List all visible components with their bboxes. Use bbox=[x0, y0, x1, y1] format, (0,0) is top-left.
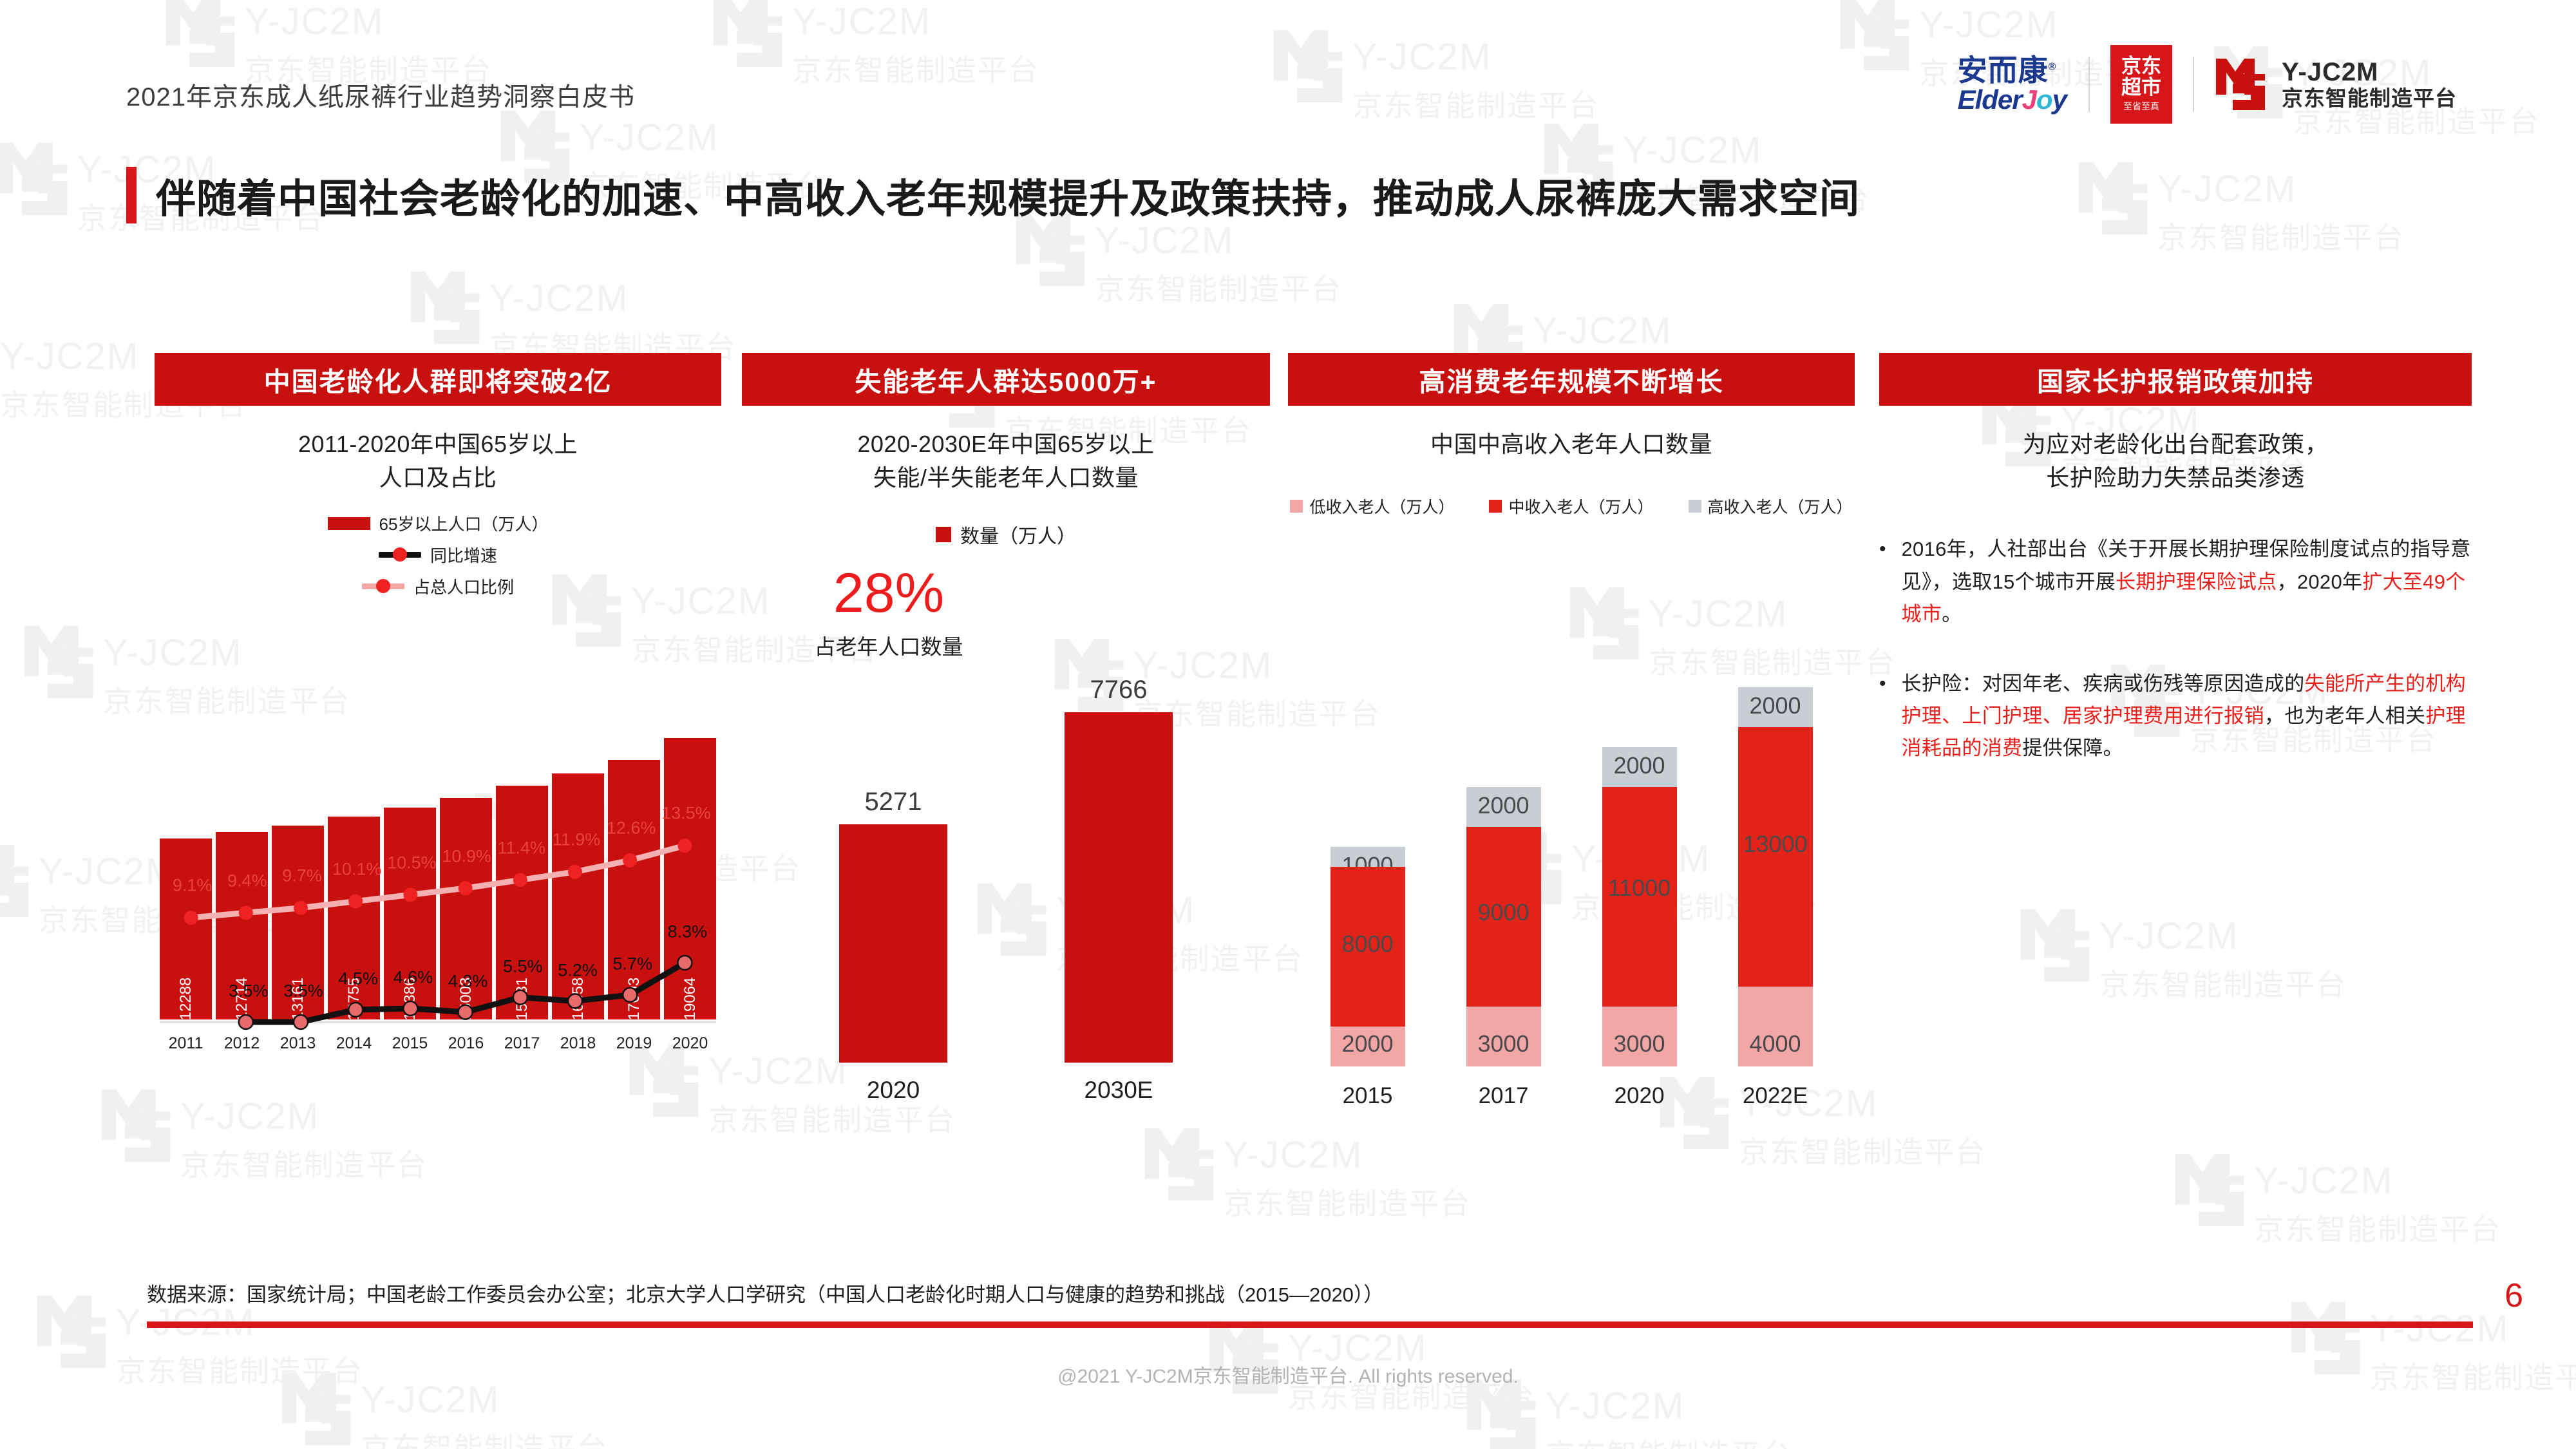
jd-super-line2: 超市 bbox=[2121, 77, 2161, 98]
data-point bbox=[239, 906, 253, 920]
watermark-logo-icon bbox=[407, 268, 483, 356]
watermark-text: Y-JC2M京东智能制造平台 bbox=[361, 1378, 608, 1449]
x-axis-label: 2017 bbox=[1466, 1083, 1541, 1109]
data-point bbox=[239, 1015, 253, 1029]
watermark-logo-icon bbox=[0, 139, 71, 227]
data-label: 12.6% bbox=[607, 819, 656, 838]
segment-value-label: 8000 bbox=[1341, 931, 1393, 958]
chart-1-legend: 65岁以上人口（万人） 同比增速 占总人口比例 bbox=[155, 511, 721, 598]
stack-segment-low: 3000 bbox=[1602, 1007, 1677, 1066]
data-label: 5.2% bbox=[558, 960, 598, 980]
panel-aging-population: 中国老龄化人群即将突破2亿 2011-2020年中国65岁以上人口及占比 65岁… bbox=[155, 353, 721, 1113]
legend-swatch-bar bbox=[328, 517, 370, 530]
chart-3-legend: 低收入老人（万人） 中收入老人（万人） 高收入老人（万人） bbox=[1288, 495, 1855, 518]
data-point bbox=[403, 1001, 417, 1016]
watermark-logo-icon bbox=[2075, 158, 2151, 247]
logo-divider bbox=[2088, 57, 2090, 112]
elderjoy-cn-text: 安而康 bbox=[1958, 53, 2049, 87]
data-label: 3.5% bbox=[283, 981, 323, 1001]
document-title: 2021年京东成人纸尿裤行业趋势洞察白皮书 bbox=[126, 76, 635, 113]
elderjoy-en-y: y bbox=[2052, 84, 2067, 115]
watermark-text: Y-JC2M京东智能制造平台 bbox=[1224, 1133, 1471, 1223]
bar-value-label: 7766 bbox=[1090, 676, 1148, 705]
chart-2-x-axis-labels: 20202030E bbox=[781, 1077, 1231, 1104]
headline-block: 伴随着中国社会老龄化的加速、中高收入老年规模提升及政策扶持，推动成人尿裤庞大需求… bbox=[126, 166, 1860, 224]
legend-label-population: 65岁以上人口（万人） bbox=[379, 511, 549, 535]
data-source-note: 数据来源：国家统计局；中国老龄工作委员会办公室；北京大学人口学研究（中国人口老龄… bbox=[147, 1278, 1383, 1307]
registered-trademark-icon: ® bbox=[2049, 61, 2057, 72]
data-label: 9.4% bbox=[227, 871, 267, 891]
x-axis-label: 2013 bbox=[272, 1034, 324, 1053]
subtitle-line-1: 为应对老龄化出台配套政策， bbox=[1879, 428, 2472, 461]
legend-label-growth: 同比增速 bbox=[430, 543, 497, 567]
legend-swatch-high-income bbox=[1689, 500, 1701, 513]
bullet-text: 2016年，人社部出台《关于开展长期护理保险制度试点的指导意见》，选取15个城市… bbox=[1902, 533, 2472, 630]
stack-segment-low: 2000 bbox=[1331, 1027, 1405, 1066]
data-point bbox=[348, 1003, 363, 1017]
highlighted-phrase: 长期护理保险试点 bbox=[2116, 571, 2277, 593]
stack-segment-high: 2000 bbox=[1602, 747, 1677, 787]
data-point bbox=[294, 901, 308, 915]
bullet-dot-icon: • bbox=[1879, 668, 1886, 765]
segment-value-label: 3000 bbox=[1477, 1030, 1529, 1057]
data-point bbox=[677, 956, 692, 970]
chart-3-x-axis-labels: 2015201720202022E bbox=[1300, 1083, 1843, 1109]
data-label: 9.7% bbox=[282, 866, 322, 886]
list-item: •长护险：对因年老、疾病或伤残等原因造成的失能所产生的机构护理、上门护理、居家护… bbox=[1879, 668, 2472, 765]
data-label: 4.5% bbox=[338, 969, 378, 989]
data-point bbox=[459, 1005, 473, 1019]
stack-segment-low: 3000 bbox=[1466, 1007, 1541, 1066]
data-point bbox=[677, 838, 692, 853]
segment-value-label: 2000 bbox=[1341, 1030, 1393, 1057]
yjc2m-logo: Y-JC2M 京东智能制造平台 bbox=[2194, 56, 2457, 113]
data-label: 10.1% bbox=[332, 859, 382, 879]
data-point bbox=[513, 990, 527, 1005]
watermark-logo-icon bbox=[1141, 1124, 1217, 1213]
footer-rule bbox=[147, 1321, 2473, 1328]
logo-group: 安而康® ElderJoy 京东 超市 至省至真 Y-JC2M 京东智能制造平台 bbox=[1958, 46, 2457, 122]
data-label: 13.5% bbox=[661, 804, 711, 824]
segment-value-label: 3000 bbox=[1613, 1030, 1665, 1057]
watermark-logo-icon bbox=[21, 622, 97, 710]
legend-item-high-income: 高收入老人（万人） bbox=[1689, 495, 1853, 518]
stack-segment-high: 1000 bbox=[1331, 847, 1405, 867]
x-axis-label: 2018 bbox=[552, 1034, 604, 1053]
list-item: •2016年，人社部出台《关于开展长期护理保险制度试点的指导意见》，选取15个城… bbox=[1879, 533, 2472, 630]
legend-item-share: 占总人口比例 bbox=[362, 574, 514, 598]
x-axis-label: 2017 bbox=[496, 1034, 548, 1053]
x-axis-label: 2020 bbox=[839, 1077, 947, 1104]
data-point bbox=[568, 865, 582, 879]
panel-1-title: 中国老龄化人群即将突破2亿 bbox=[155, 353, 721, 406]
watermark-text: Y-JC2M京东智能制造平台 bbox=[1546, 1385, 1793, 1449]
legend-item-population: 65岁以上人口（万人） bbox=[328, 511, 549, 535]
x-axis-label: 2015 bbox=[1331, 1083, 1405, 1109]
data-label: 8.3% bbox=[668, 922, 708, 942]
bar-column: 7766 bbox=[1065, 676, 1173, 1063]
data-point bbox=[623, 988, 637, 1002]
data-label: 5.7% bbox=[612, 954, 652, 974]
segment-value-label: 2000 bbox=[1477, 792, 1529, 819]
chart-3-stacked-bars: 1000800020002000900030002000110003000200… bbox=[1300, 667, 1843, 1066]
legend-swatch-mid-income bbox=[1489, 500, 1502, 513]
data-label: 4.6% bbox=[393, 968, 433, 988]
watermark-logo-icon bbox=[710, 0, 786, 79]
watermark-logo-icon bbox=[0, 841, 32, 929]
legend-item-growth: 同比增速 bbox=[379, 543, 497, 567]
bullet-dot-icon: • bbox=[1879, 533, 1886, 630]
data-label: 10.5% bbox=[387, 853, 437, 873]
elderjoy-en-text: Elder bbox=[1958, 84, 2022, 115]
x-axis-label: 2022E bbox=[1738, 1083, 1813, 1109]
x-axis-label: 2020 bbox=[664, 1034, 716, 1053]
panel-3-title: 高消费老年规模不断增长 bbox=[1288, 353, 1855, 406]
yjc2m-cn-text: 京东智能制造平台 bbox=[2282, 86, 2457, 110]
legend-label-high-income: 高收入老人（万人） bbox=[1708, 495, 1853, 518]
panel-high-income-elderly: 高消费老年规模不断增长 中国中高收入老年人口数量 低收入老人（万人） 中收入老人… bbox=[1288, 353, 1855, 1113]
data-label: 10.9% bbox=[442, 846, 491, 866]
x-axis-label: 2012 bbox=[216, 1034, 268, 1053]
bar bbox=[1065, 712, 1173, 1063]
data-point bbox=[568, 994, 582, 1009]
panel-3-subtitle: 中国中高收入老年人口数量 bbox=[1288, 428, 1855, 461]
stack-segment-mid: 13000 bbox=[1738, 727, 1813, 987]
panel-4-subtitle: 为应对老龄化出台配套政策，长护险助力失禁品类渗透 bbox=[1879, 428, 2472, 495]
data-label: 11.9% bbox=[553, 830, 601, 850]
chart-2-bars: 52717766 bbox=[781, 670, 1231, 1063]
jd-supermarket-logo: 京东 超市 至省至真 bbox=[2110, 45, 2172, 124]
elderjoy-en-j: J bbox=[2022, 84, 2036, 115]
stack-segment-mid: 11000 bbox=[1602, 787, 1677, 1007]
panel-1-subtitle: 2011-2020年中国65岁以上人口及占比 bbox=[155, 428, 721, 495]
stack-segment-high: 2000 bbox=[1738, 687, 1813, 727]
panel-2-title: 失能老年人群达5000万+ bbox=[742, 353, 1270, 406]
stacked-bar-column: 2000130004000 bbox=[1738, 667, 1813, 1066]
legend-label-count: 数量（万人） bbox=[960, 520, 1076, 549]
policy-bullet-list: •2016年，人社部出台《关于开展长期护理保险制度试点的指导意见》，选取15个城… bbox=[1879, 533, 2472, 764]
plain-phrase: 长护险：对因年老、疾病或伤残等原因造成的 bbox=[1902, 672, 2305, 695]
watermark-text: Y-JC2M京东智能制造平台 bbox=[1352, 35, 1600, 125]
data-point bbox=[348, 895, 363, 909]
watermark-logo-icon bbox=[1270, 26, 1346, 115]
data-point bbox=[184, 911, 198, 925]
chart-2-plot: 52717766 20202030E bbox=[742, 623, 1270, 1113]
legend-swatch-share-line bbox=[362, 583, 404, 589]
yjc2m-mark-icon bbox=[2213, 56, 2268, 113]
legend-label-share: 占总人口比例 bbox=[413, 574, 514, 598]
data-point bbox=[403, 888, 417, 902]
data-point bbox=[513, 873, 527, 887]
data-label: 5.5% bbox=[503, 957, 543, 977]
plain-phrase: ，也为老年人相关 bbox=[2264, 705, 2425, 727]
legend-swatch-growth-line bbox=[379, 552, 421, 558]
panel-row: 中国老龄化人群即将突破2亿 2011-2020年中国65岁以上人口及占比 65岁… bbox=[155, 353, 2499, 1113]
elderjoy-en-o: o bbox=[2036, 84, 2052, 115]
legend-swatch-low-income bbox=[1290, 500, 1303, 513]
kpi-value: 28% bbox=[792, 565, 985, 621]
watermark-text: Y-JC2M京东智能制造平台 bbox=[792, 0, 1039, 90]
legend-label-low-income: 低收入老人（万人） bbox=[1309, 495, 1454, 518]
stack-segment-mid: 9000 bbox=[1466, 827, 1541, 1007]
segment-value-label: 2000 bbox=[1613, 752, 1665, 779]
watermark-text: Y-JC2M京东智能制造平台 bbox=[2157, 167, 2405, 257]
subtitle-line-1: 2011-2020年中国65岁以上 bbox=[155, 428, 721, 461]
segment-value-label: 9000 bbox=[1477, 899, 1529, 926]
legend-item-low-income: 低收入老人（万人） bbox=[1290, 495, 1454, 518]
plain-phrase: 提供保障。 bbox=[2022, 737, 2123, 759]
x-axis-label: 2011 bbox=[160, 1034, 212, 1053]
bar-column: 5271 bbox=[839, 788, 947, 1063]
stacked-bar-column: 200090003000 bbox=[1466, 667, 1541, 1066]
headline-text: 伴随着中国社会老龄化的加速、中高收入老年规模提升及政策扶持，推动成人尿裤庞大需求… bbox=[156, 166, 1860, 224]
watermark-text: Y-JC2M京东智能制造平台 bbox=[1095, 219, 1342, 308]
panel-disabled-elderly: 失能老年人群达5000万+ 2020-2030E年中国65岁以上失能/半失能老年… bbox=[742, 353, 1270, 1113]
data-label: 4.3% bbox=[448, 972, 488, 992]
bar-value-label: 5271 bbox=[865, 788, 922, 817]
data-point bbox=[459, 882, 473, 896]
stack-segment-low: 4000 bbox=[1738, 987, 1813, 1066]
jd-super-tagline: 至省至真 bbox=[2123, 100, 2159, 113]
subtitle-line-1: 2020-2030E年中国65岁以上 bbox=[742, 428, 1270, 461]
stack-segment-mid: 8000 bbox=[1331, 867, 1405, 1027]
bar bbox=[839, 824, 947, 1063]
subtitle-line-2: 失能/半失能老年人口数量 bbox=[742, 461, 1270, 495]
subtitle-line-2: 长护险助力失禁品类渗透 bbox=[1879, 461, 2472, 495]
copyright-text: @2021 Y-JC2M京东智能制造平台. All rights reserve… bbox=[0, 1360, 2576, 1388]
plain-phrase: ，2020年 bbox=[2277, 571, 2363, 593]
panel-2-subtitle: 2020-2030E年中国65岁以上失能/半失能老年人口数量 bbox=[742, 428, 1270, 495]
stack-segment-high: 2000 bbox=[1466, 787, 1541, 827]
headline-accent-bar bbox=[126, 167, 137, 223]
x-axis-label: 2020 bbox=[1602, 1083, 1677, 1109]
chart-1-plot: 1228812714131611375514386150031583116658… bbox=[155, 605, 721, 1056]
x-axis-label: 2015 bbox=[384, 1034, 436, 1053]
page-number: 6 bbox=[2505, 1276, 2523, 1315]
legend-label-mid-income: 中收入老人（万人） bbox=[1508, 495, 1653, 518]
legend-swatch-count bbox=[936, 527, 951, 542]
watermark-text: Y-JC2M京东智能制造平台 bbox=[2254, 1159, 2501, 1249]
legend-item-mid-income: 中收入老人（万人） bbox=[1489, 495, 1653, 518]
jd-super-line1: 京东 bbox=[2121, 55, 2161, 77]
data-label: 11.4% bbox=[498, 838, 546, 858]
data-point bbox=[623, 853, 637, 867]
segment-value-label: 11000 bbox=[1608, 875, 1671, 902]
segment-value-label: 4000 bbox=[1749, 1030, 1801, 1057]
subtitle-line-1: 中国中高收入老年人口数量 bbox=[1288, 428, 1855, 461]
segment-value-label: 13000 bbox=[1743, 831, 1807, 858]
x-axis-label: 2030E bbox=[1065, 1077, 1173, 1104]
x-axis-label: 2016 bbox=[440, 1034, 492, 1053]
stacked-bar-column: 2000110003000 bbox=[1602, 667, 1677, 1066]
bullet-text: 长护险：对因年老、疾病或伤残等原因造成的失能所产生的机构护理、上门护理、居家护理… bbox=[1902, 668, 2472, 765]
stacked-bar-column: 100080002000 bbox=[1331, 667, 1405, 1066]
plain-phrase: 。 bbox=[1942, 603, 1962, 625]
chart-1-x-axis-labels: 2011201220132014201520162017201820192020 bbox=[160, 1034, 716, 1053]
x-axis-label: 2014 bbox=[328, 1034, 380, 1053]
slide-root: Y-JC2M京东智能制造平台Y-JC2M京东智能制造平台Y-JC2M京东智能制造… bbox=[0, 0, 2576, 1449]
chart-2-legend: 数量（万人） bbox=[742, 520, 1270, 549]
data-point bbox=[294, 1015, 308, 1029]
data-label: 3.5% bbox=[229, 981, 269, 1001]
elderjoy-logo: 安而康® ElderJoy bbox=[1958, 55, 2088, 114]
chart-3-plot: 1000800020002000900030002000110003000200… bbox=[1288, 649, 1855, 1113]
x-axis-label: 2019 bbox=[608, 1034, 660, 1053]
segment-value-label: 2000 bbox=[1749, 692, 1801, 719]
subtitle-line-2: 人口及占比 bbox=[155, 461, 721, 495]
watermark-logo-icon bbox=[162, 0, 238, 79]
data-label: 9.1% bbox=[173, 876, 213, 896]
watermark-logo-icon bbox=[2172, 1150, 2248, 1238]
watermark-logo-icon bbox=[1837, 0, 1913, 82]
panel-policy-support: 国家长护报销政策加持 为应对老龄化出台配套政策，长护险助力失禁品类渗透 •201… bbox=[1879, 353, 2472, 1113]
yjc2m-en-text: Y-JC2M bbox=[2282, 58, 2379, 86]
panel-4-title: 国家长护报销政策加持 bbox=[1879, 353, 2472, 406]
